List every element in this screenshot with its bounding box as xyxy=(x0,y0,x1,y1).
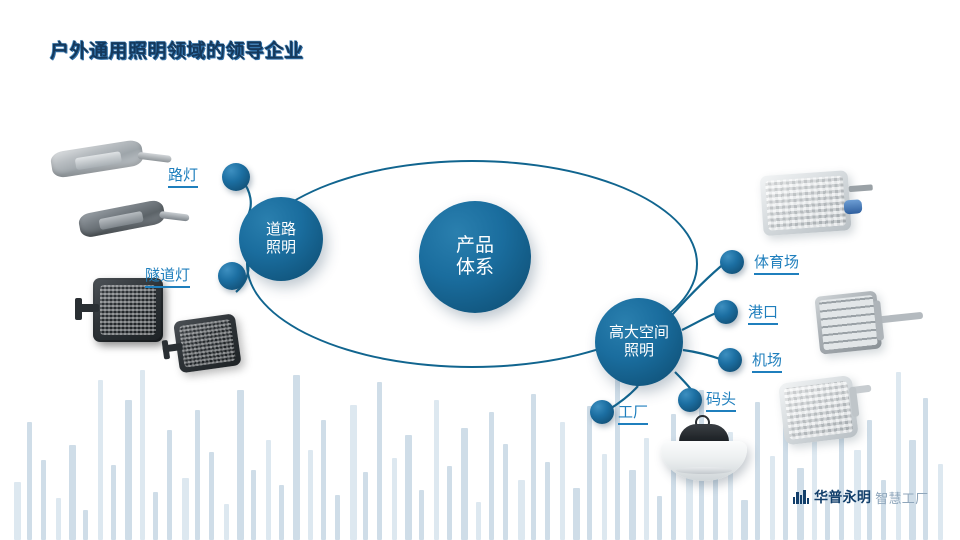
branch-node-high-space-lighting[interactable]: 高大空间 照明 xyxy=(595,298,683,386)
spoke-dot-tunnel-lamp[interactable] xyxy=(218,262,246,290)
decorative-bar xyxy=(293,375,300,540)
center-node-line1: 产品 xyxy=(456,235,494,257)
branch-road-line2: 照明 xyxy=(266,239,296,257)
decorative-bar xyxy=(167,430,172,540)
company-logo: 华普永明 智慧工厂 xyxy=(792,487,928,507)
spoke-dot-street-lamp[interactable] xyxy=(222,163,250,191)
decorative-bar xyxy=(896,372,901,540)
decorative-bar xyxy=(587,406,592,540)
decorative-bar xyxy=(419,490,424,540)
spoke-label-port[interactable]: 港口 xyxy=(748,301,778,325)
airport-flood-light-product-image xyxy=(778,369,897,460)
decorative-bar xyxy=(69,445,76,540)
decorative-bar xyxy=(573,488,580,540)
spoke-label-wharf[interactable]: 码头 xyxy=(706,388,736,412)
decorative-bar xyxy=(629,470,636,540)
spoke-label-airport[interactable]: 机场 xyxy=(752,349,782,373)
decorative-bar xyxy=(321,420,326,540)
decorative-bar xyxy=(461,428,468,540)
decorative-bar xyxy=(182,478,189,540)
decorative-bar xyxy=(27,422,32,540)
decorative-bar xyxy=(224,504,229,540)
branch-node-road-lighting[interactable]: 道路 照明 xyxy=(239,197,323,281)
port-flood-light-product-image xyxy=(814,281,952,374)
branch-highspace-line2: 照明 xyxy=(609,342,669,360)
decorative-bar xyxy=(308,450,313,540)
decorative-bar xyxy=(83,510,88,540)
decorative-bar xyxy=(938,464,943,540)
decorative-bar xyxy=(111,465,116,540)
decorative-bar xyxy=(350,405,357,540)
decorative-bar xyxy=(405,435,412,540)
decorative-bar xyxy=(503,444,508,540)
decorative-bar xyxy=(125,400,132,540)
decorative-bar xyxy=(209,452,214,540)
decorative-bar xyxy=(531,394,536,540)
decorative-bar xyxy=(251,470,256,540)
spoke-dot-port[interactable] xyxy=(714,300,738,324)
decorative-bar xyxy=(153,492,158,540)
decorative-bar xyxy=(657,496,662,540)
decorative-bar xyxy=(237,390,244,540)
spoke-dot-stadium[interactable] xyxy=(720,250,744,274)
decorative-bar xyxy=(335,495,340,540)
decorative-bar xyxy=(489,412,494,540)
decorative-bar xyxy=(770,456,775,540)
decorative-bar xyxy=(476,502,481,540)
spoke-dot-wharf[interactable] xyxy=(678,388,702,412)
decorative-bar xyxy=(266,440,271,540)
branch-road-line1: 道路 xyxy=(266,221,296,239)
decorative-bar xyxy=(140,370,145,540)
decorative-bar xyxy=(923,398,928,540)
spoke-label-factory[interactable]: 工厂 xyxy=(618,401,648,425)
decorative-bar xyxy=(56,498,61,540)
spoke-label-street-lamp[interactable]: 路灯 xyxy=(168,164,198,188)
page-title: 户外通用照明领域的领导企业 xyxy=(50,36,304,63)
decorative-bar xyxy=(434,400,439,540)
bar-chart-logo-mark-icon xyxy=(792,488,810,506)
decorative-bar xyxy=(392,458,397,540)
stadium-flood-light-product-image xyxy=(759,164,884,252)
decorative-bar xyxy=(602,454,607,540)
decorative-bar xyxy=(14,482,21,540)
spoke-label-stadium[interactable]: 体育场 xyxy=(754,251,799,275)
logo-tagline: 智慧工厂 xyxy=(875,488,928,507)
decorative-bar xyxy=(447,466,452,540)
factory-high-bay-light-product-image xyxy=(657,415,757,495)
tunnel-flood-light-product-image xyxy=(75,278,167,348)
decorative-bar xyxy=(279,485,284,540)
spoke-label-tunnel-lamp[interactable]: 隧道灯 xyxy=(145,264,190,288)
spoke-dot-factory[interactable] xyxy=(590,400,614,424)
center-node-product-system[interactable]: 产品 体系 xyxy=(419,201,531,313)
decorative-bar xyxy=(560,422,565,540)
spoke-dot-airport[interactable] xyxy=(718,348,742,372)
branch-highspace-line1: 高大空间 xyxy=(609,324,669,342)
slide-canvas: 户外通用照明领域的领导企业 xyxy=(0,0,960,540)
decorative-bar xyxy=(377,382,382,540)
decorative-bar xyxy=(518,480,525,540)
decorative-bar xyxy=(741,500,748,540)
decorative-bar xyxy=(545,462,550,540)
decorative-bar xyxy=(644,438,649,540)
center-node-line2: 体系 xyxy=(456,257,494,279)
decorative-bar xyxy=(98,380,103,540)
logo-company-name: 华普永明 xyxy=(814,487,871,507)
decorative-bar xyxy=(363,472,368,540)
tunnel-flood-light-small-product-image xyxy=(159,313,247,384)
decorative-bar xyxy=(195,410,200,540)
decorative-bar xyxy=(41,460,46,540)
